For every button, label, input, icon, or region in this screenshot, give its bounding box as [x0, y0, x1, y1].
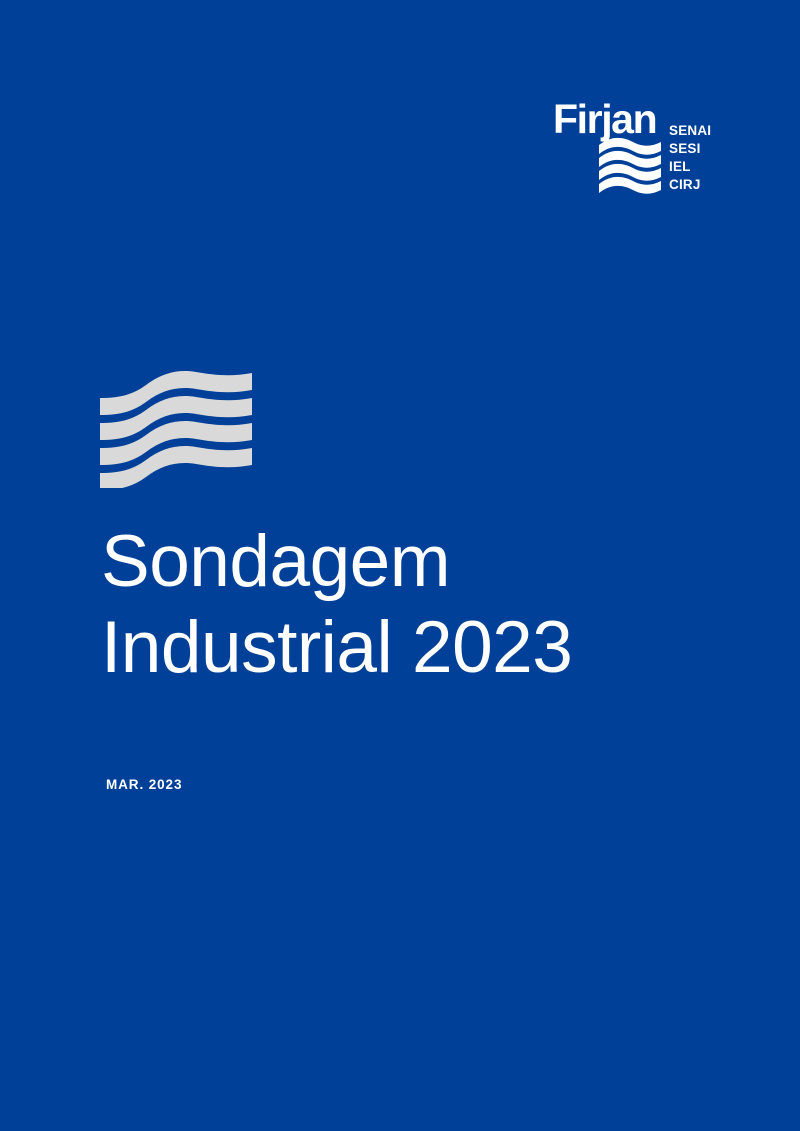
page-title-line-1: Sondagem [101, 519, 721, 605]
page-title: Sondagem Industrial 2023 [101, 519, 721, 691]
publication-date: MAR. 2023 [106, 777, 182, 792]
firjan-unit-cirj: CIRJ [669, 177, 701, 192]
firjan-unit-senai: SENAI [669, 123, 711, 138]
firjan-logo: Firjan SENAI SESI IEL CIRJ [553, 97, 718, 192]
firjan-unit-sesi: SESI [669, 141, 701, 156]
firjan-wordmark: Firjan [553, 96, 656, 142]
report-cover-page: Firjan SENAI SESI IEL CIRJ [0, 0, 800, 1131]
page-title-line-2: Industrial 2023 [101, 605, 721, 691]
firjan-unit-iel: IEL [669, 159, 691, 174]
wave-mark-svg [100, 371, 252, 488]
wave-mark-decoration [100, 371, 252, 488]
firjan-wave-icon [599, 138, 661, 194]
firjan-logo-svg: Firjan SENAI SESI IEL CIRJ [553, 97, 718, 192]
